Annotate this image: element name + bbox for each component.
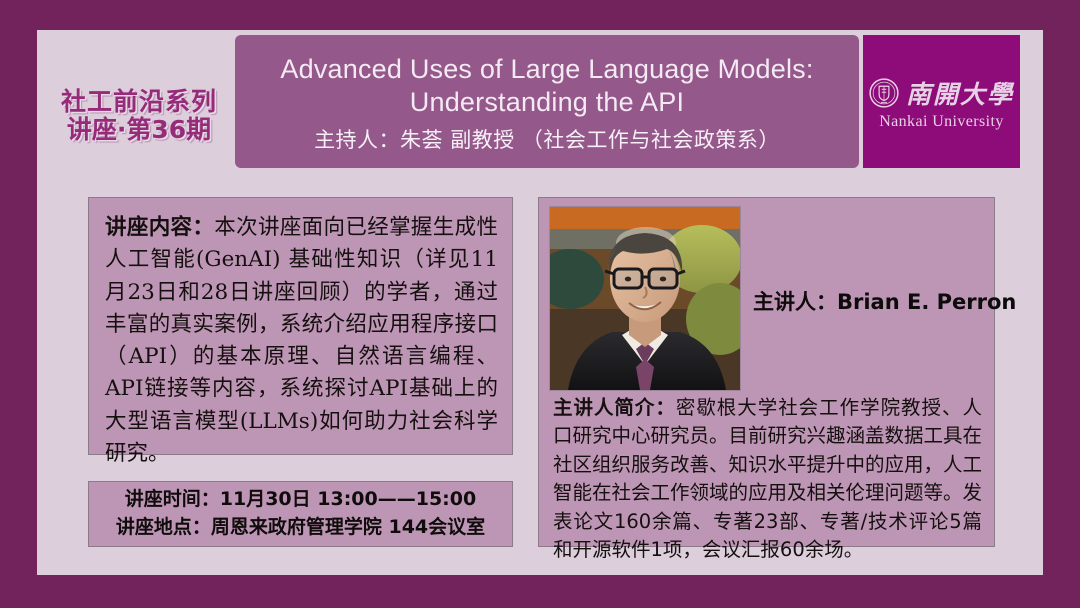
schedule-time: 讲座时间：11月30日 13:00——15:00: [125, 486, 476, 514]
poster-root: 社工前沿系列 讲座·第36期 Advanced Uses of Large La…: [0, 0, 1080, 608]
speaker-portrait: [550, 207, 740, 390]
speaker-photo-frame: [549, 206, 741, 391]
speaker-name: 主讲人：Brian E. Perron: [753, 286, 985, 316]
series-title-line-2: 讲座·第36期: [67, 116, 211, 144]
speaker-bio: 主讲人简介：密歇根大学社会工作学院教授、人口研究中心研究员。目前研究兴趣涵盖数据…: [553, 394, 982, 565]
speaker-box: 主讲人：Brian E. Perron 主讲人简介：密歇根大学社会工作学院教授、…: [538, 197, 995, 547]
abstract-text: 讲座内容：本次讲座面向已经掌握生成性人工智能(GenAI) 基础性知识（详见11…: [105, 212, 498, 470]
abstract-label: 讲座内容：: [105, 215, 214, 240]
schedule-box: 讲座时间：11月30日 13:00——15:00 讲座地点：周恩来政府管理学院 …: [88, 481, 513, 547]
series-title-block: 社工前沿系列 讲座·第36期: [44, 72, 234, 160]
nankai-seal-icon: [869, 78, 899, 108]
university-logo: 南開大學 Nankai University: [869, 75, 1014, 131]
title-english-line-1: Advanced Uses of Large Language Models:: [280, 53, 813, 86]
speaker-bio-body: 密歇根大学社会工作学院教授、人口研究中心研究员。目前研究兴趣涵盖数据工具在社区组…: [553, 396, 982, 561]
speaker-bio-label: 主讲人简介：: [553, 396, 676, 419]
abstract-box: 讲座内容：本次讲座面向已经掌握生成性人工智能(GenAI) 基础性知识（详见11…: [88, 197, 513, 455]
title-english-line-2: Understanding the API: [410, 86, 684, 119]
schedule-place: 讲座地点：周恩来政府管理学院 144会议室: [116, 514, 485, 542]
logo-english-name: Nankai University: [879, 113, 1004, 131]
speaker-portrait-image: [550, 207, 740, 390]
title-banner: Advanced Uses of Large Language Models: …: [235, 35, 859, 168]
title-host-line: 主持人：朱荟 副教授 （社会工作与社会政策系）: [314, 124, 780, 154]
abstract-body: 本次讲座面向已经掌握生成性人工智能(GenAI) 基础性知识（详见11月23日和…: [105, 215, 498, 466]
university-logo-box: 南開大學 Nankai University: [863, 35, 1020, 168]
logo-row: 南開大學: [869, 75, 1014, 111]
series-title-line-1: 社工前沿系列: [61, 88, 217, 116]
logo-chinese-name: 南開大學: [906, 75, 1014, 111]
